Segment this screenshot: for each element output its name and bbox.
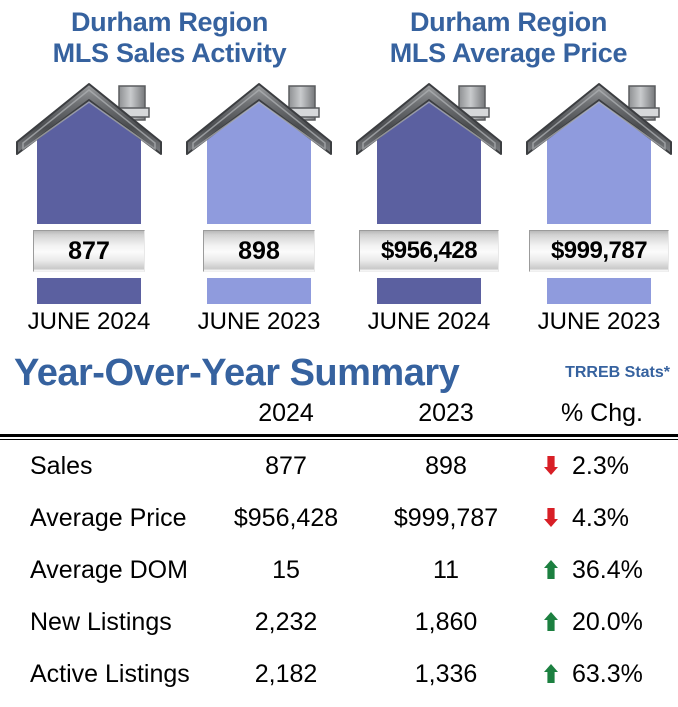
house-value-text: 877 xyxy=(33,230,145,272)
cell-2024: 877 xyxy=(206,452,366,481)
row-label: Active Listings xyxy=(0,660,206,689)
change-percent: 4.3% xyxy=(568,504,629,533)
cell-change: 20.0% xyxy=(526,607,678,637)
table-row: Sales8778982.3% xyxy=(0,440,678,492)
panel-title-line2: MLS Average Price xyxy=(339,38,678,69)
house-body xyxy=(377,134,481,304)
panel-title-average-price: Durham Region MLS Average Price xyxy=(339,0,678,72)
cell-change: 4.3% xyxy=(526,503,678,533)
cell-2024: 15 xyxy=(206,556,366,585)
cell-change: 36.4% xyxy=(526,555,678,585)
house-value-sign: $999,787 xyxy=(523,224,675,278)
panel-title-line1: Durham Region xyxy=(0,7,339,38)
house-card-sales-2024: 877 JUNE 2024 xyxy=(4,72,174,344)
cell-2023: 1,336 xyxy=(366,660,526,689)
house-caption: JUNE 2023 xyxy=(514,308,678,336)
change-percent: 2.3% xyxy=(568,452,629,481)
house-caption: JUNE 2023 xyxy=(174,308,344,336)
house-value-text: $999,787 xyxy=(529,230,669,272)
house-caption: JUNE 2024 xyxy=(4,308,174,336)
house-roof-icon xyxy=(179,80,339,158)
house-value-sign: $956,428 xyxy=(353,224,505,278)
house-caption: JUNE 2024 xyxy=(344,308,514,336)
house-value-text: $956,428 xyxy=(359,230,499,272)
table-row: Active Listings2,1821,33663.3% xyxy=(0,648,678,700)
row-label: Average DOM xyxy=(0,556,206,585)
house-value-sign: 898 xyxy=(197,224,321,278)
house-body xyxy=(207,134,311,304)
cell-2024: $956,428 xyxy=(206,504,366,533)
house-graphics-row: 877 JUNE 2024 898 JUNE 2023 xyxy=(0,72,678,344)
house-body xyxy=(547,134,651,304)
arrow-down-icon xyxy=(534,503,568,533)
table-row: Average Price$956,428$999,7874.3% xyxy=(0,492,678,544)
table-body: Sales8778982.3%Average Price$956,428$999… xyxy=(0,440,678,700)
house-card-price-2024: $956,428 JUNE 2024 xyxy=(344,72,514,344)
page-title: Year-Over-Year Summary xyxy=(14,352,459,395)
house-icon: 877 xyxy=(9,72,169,312)
house-card-sales-2023: 898 JUNE 2023 xyxy=(174,72,344,344)
house-value-sign: 877 xyxy=(27,224,151,278)
arrow-up-icon xyxy=(534,659,568,689)
house-body xyxy=(37,134,141,304)
column-header-2023: 2023 xyxy=(366,399,526,428)
cell-2024: 2,232 xyxy=(206,608,366,637)
cell-change: 63.3% xyxy=(526,659,678,689)
house-icon: $956,428 xyxy=(349,72,509,312)
house-roof-icon xyxy=(9,80,169,158)
house-value-text: 898 xyxy=(203,230,315,272)
panel-titles: Durham Region MLS Sales Activity Durham … xyxy=(0,0,678,72)
table-header-row: 2024 2023 % Chg. xyxy=(0,394,678,432)
column-header-change: % Chg. xyxy=(526,399,678,428)
row-label: New Listings xyxy=(0,608,206,637)
row-label: Average Price xyxy=(0,504,206,533)
row-label: Sales xyxy=(0,452,206,481)
house-card-price-2023: $999,787 JUNE 2023 xyxy=(514,72,678,344)
table-header-rule xyxy=(0,434,678,437)
source-note: TRREB Stats* xyxy=(565,364,670,382)
panel-title-sales-activity: Durham Region MLS Sales Activity xyxy=(0,0,339,72)
table-row: Average DOM151136.4% xyxy=(0,544,678,596)
house-roof-icon xyxy=(349,80,509,158)
house-roof-icon xyxy=(519,80,678,158)
house-icon: 898 xyxy=(179,72,339,312)
change-percent: 36.4% xyxy=(568,556,643,585)
panel-title-line2: MLS Sales Activity xyxy=(0,38,339,69)
column-header-2024: 2024 xyxy=(206,399,366,428)
table-row: New Listings2,2321,86020.0% xyxy=(0,596,678,648)
cell-2023: 1,860 xyxy=(366,608,526,637)
change-percent: 63.3% xyxy=(568,660,643,689)
change-percent: 20.0% xyxy=(568,608,643,637)
arrow-up-icon xyxy=(534,555,568,585)
arrow-up-icon xyxy=(534,607,568,637)
arrow-down-icon xyxy=(534,451,568,481)
cell-2023: 11 xyxy=(366,556,526,585)
cell-2024: 2,182 xyxy=(206,660,366,689)
summary-heading: Year-Over-Year Summary TRREB Stats* xyxy=(0,352,678,392)
house-icon: $999,787 xyxy=(519,72,678,312)
cell-2023: $999,787 xyxy=(366,504,526,533)
cell-change: 2.3% xyxy=(526,451,678,481)
panel-title-line1: Durham Region xyxy=(339,7,678,38)
cell-2023: 898 xyxy=(366,452,526,481)
year-over-year-table: 2024 2023 % Chg. Sales8778982.3%Average … xyxy=(0,394,678,700)
